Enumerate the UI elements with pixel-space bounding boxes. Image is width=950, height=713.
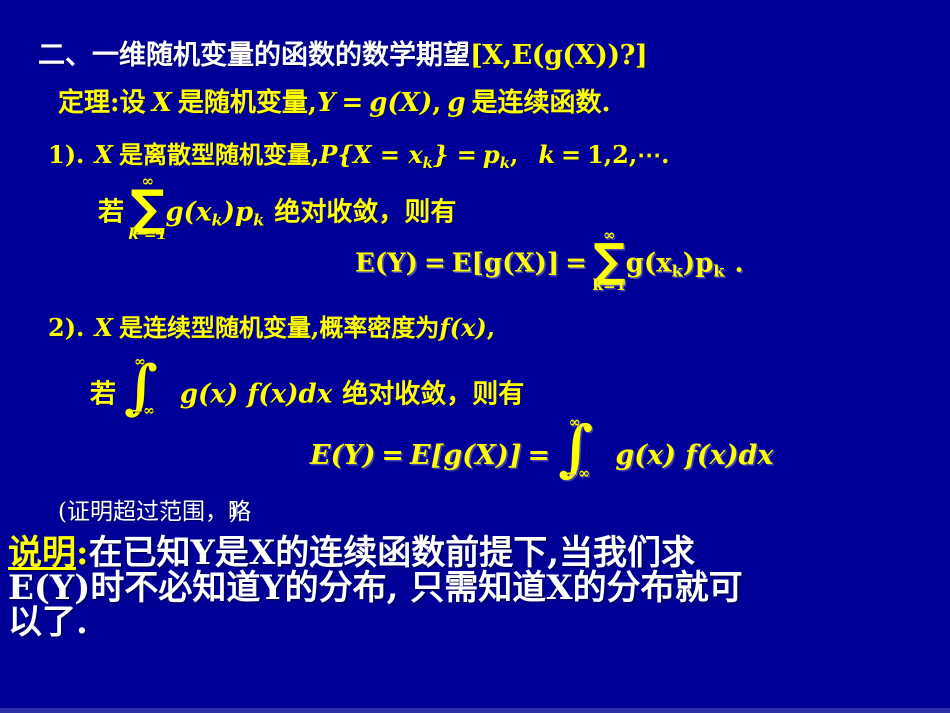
explanation-label: 说明 [8,533,76,573]
case-1-k-values: 1,2, [587,140,637,169]
case-1-number: 1). [48,140,84,169]
condition-1-if-word: 若 [98,197,124,227]
condition-2-if-word: 若 [90,379,116,409]
case-2-var-x: X [94,313,113,342]
proof-note-text: 证明超过范围，略 [67,499,251,525]
summation-symbol: ∞∑k =1 [130,188,165,229]
result-1-term-rparen: )p [683,248,713,278]
integral-symbol: ∞∫−∞ [558,425,593,472]
case-2-continuous: 2).X是连续型随机变量,概率密度为f(x), [48,308,495,343]
title-main-text: 二、一维随机变量的函数的数学期望 [38,40,470,71]
proof-note-open-paren: ( [58,499,67,525]
theorem-statement: 定理:设X是随机变量,Y=g(X),g是连续函数. [58,82,611,119]
case-2-f-arg: (x) [450,313,487,342]
case-1-k-dots: ⋯ [637,140,661,169]
result-2-body: g(x) f(x)dx [615,440,773,471]
case-1-k-period: . [661,140,669,169]
result-2-eq1: = [381,440,404,471]
case-1-pk-comma: , [510,140,518,169]
sum-upper-limit: ∞ [141,174,154,189]
condition-1-g: g [165,197,183,227]
result-2-ey: E(Y) [310,440,375,471]
proof-note: (证明超过范围，略) [58,492,238,526]
explanation-line-3-text: 以了. [8,605,950,640]
result-1-ey: E(Y) [355,248,418,278]
title-highlight-text: [X,E(g(X))?] [470,40,647,71]
theorem-set-word: 设 [120,88,146,118]
condition-1-p: p [235,197,253,227]
condition-2-integral: 若∞∫−∞g(x) f(x)dx绝对收敛，则有 [90,364,524,410]
sigma-icon: ∑ [593,242,626,279]
result-1-eq2: = [565,248,587,278]
case-1-pk: p [483,140,500,169]
theorem-is-rv: 是随机变量 [178,88,308,118]
condition-1-rparen: ) [223,197,235,227]
case-1-pk-sub: k [500,154,510,172]
integral-lower-limit: −∞ [566,467,590,482]
result-1-term-sub2: k [713,261,724,280]
result-2-egx: E[g(X)] [410,440,522,471]
explanation-line-1: 说明:在已知Y是X的连续函数前提下,当我们求 [8,536,950,571]
theorem-var-y: Y [317,88,336,118]
sum-upper-limit: ∞ [603,228,616,243]
integral-upper-limit: ∞ [569,416,581,431]
sigma-icon: ∑ [130,188,165,229]
case-1-prob-sub: k [423,154,433,172]
condition-1-x: x [196,197,212,227]
case-1-prob-close: } = [433,140,477,169]
case-1-prob-body: {X = x [337,140,422,169]
result-1-formula: E(Y)=E[g(X)]=∞∑k=1g(xk)pk. [355,242,744,280]
condition-1-p-sub: k [253,210,264,229]
summation-symbol: ∞∑k=1 [593,242,626,279]
result-1-period: . [734,248,743,278]
explanation-colon: : [76,533,89,573]
condition-1-sum: 若∞∑k =1g(xk)pk绝对收敛，则有 [98,188,456,229]
theorem-x-arg: X [400,88,420,118]
condition-2-converge-text: 绝对收敛，则有 [342,379,524,409]
theorem-g2: g [447,88,465,118]
bottom-strip [0,708,950,713]
condition-1-x-sub: k [211,210,222,229]
case-1-var-x: X [94,140,113,169]
condition-1-lparen: ( [184,197,196,227]
case-1-k-eq: = [561,140,581,169]
theorem-continuous-fn: 是连续函数 [472,88,602,118]
case-2-f: f [439,313,449,342]
integral-symbol: ∞∫−∞ [124,364,158,410]
case-2-desc: 是连续型随机变量 [119,313,311,342]
explanation-line-1-text: 在已知Y是X的连续函数前提下,当我们求 [89,533,696,573]
case-2-density-label: 概率密度为 [319,313,439,342]
integral-upper-limit: ∞ [134,355,146,369]
case-1-desc: 是离散型随机变量 [119,140,311,169]
theorem-colon: : [110,88,120,118]
theorem-label: 定理 [58,88,110,118]
theorem-period: . [602,88,611,118]
result-1-eq1: = [424,248,446,278]
case-2-number: 2). [48,313,84,342]
theorem-comma: , [308,88,317,118]
case-2-trailing-comma: , [487,313,495,342]
condition-2-body: g(x) f(x)dx [180,379,332,409]
explanation-line-2-text: E(Y)时不必知道Y的分布, 只需知道X的分布就可 [8,571,950,606]
sum-lower-limit: k=1 [593,278,627,293]
proof-note-close-paren: ) [229,499,238,525]
page-title: 二、一维随机变量的函数的数学期望[X,E(g(X))?] [38,33,647,72]
case-1-discrete: 1).X是离散型随机变量,P{X = xk} =pk,k=1,2,⋯. [48,135,670,172]
result-2-eq2: = [528,440,551,471]
theorem-equals: = [341,88,363,118]
theorem-lparen: ( [387,88,399,118]
case-1-prob-p: P [319,140,337,169]
explanation-block: 说明:在已知Y是X的连续函数前提下,当我们求 E(Y)时不必知道Y的分布, 只需… [8,536,950,640]
sum-lower-limit: k =1 [128,227,167,242]
slide-canvas: 二、一维随机变量的函数的数学期望[X,E(g(X))?] 定理:设X是随机变量,… [0,0,950,713]
result-1-term-sub: k [672,261,683,280]
case-1-k-label: k [538,140,555,169]
theorem-rparen: ) [420,88,432,118]
condition-1-converge-text: 绝对收敛，则有 [274,197,456,227]
theorem-g: g [369,88,387,118]
theorem-var-x: X [152,88,172,118]
theorem-comma2: , [432,88,441,118]
integral-lower-limit: −∞ [131,404,154,418]
result-2-formula: E(Y)=E[g(X)]=∞∫−∞g(x) f(x)dx [310,425,774,472]
result-1-term-g: g(x [626,248,672,278]
result-1-egx: E[g(X)] [452,248,559,278]
